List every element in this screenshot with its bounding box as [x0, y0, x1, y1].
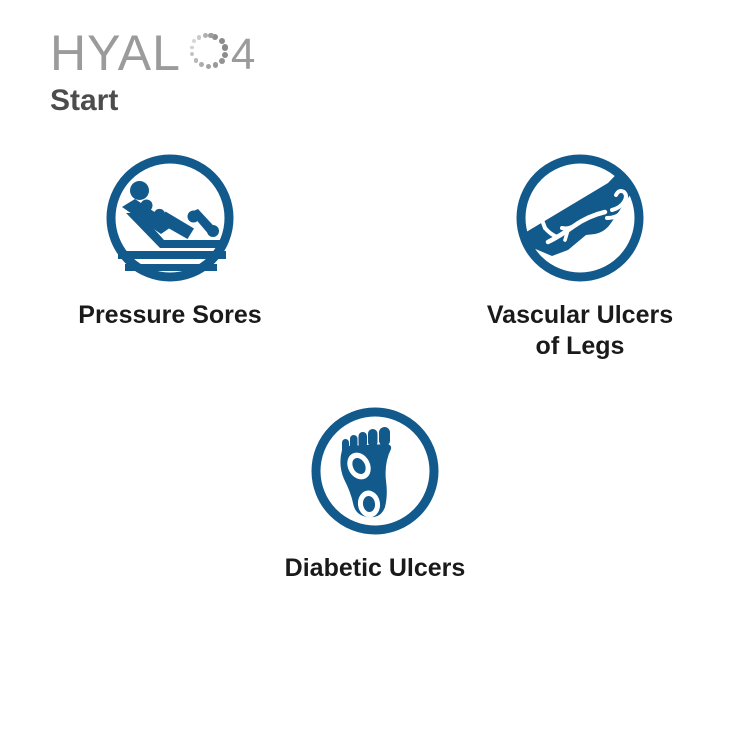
indication-menu: Pressure Sores — [0, 150, 750, 584]
dotted-circle-o-icon — [183, 30, 229, 76]
menu-item-label: Pressure Sores — [78, 300, 261, 331]
menu-item-diabetic-ulcers[interactable]: Diabetic Ulcers — [260, 403, 490, 584]
logo-version-number: 4 — [231, 33, 255, 77]
hospital-bed-patient-icon — [102, 150, 238, 286]
brand-header: HYAL 4 Start — [50, 26, 470, 118]
menu-row-bottom: Diabetic Ulcers — [0, 403, 750, 584]
leg-veins-icon — [512, 150, 648, 286]
logo-wordmark-text: HYAL — [50, 28, 181, 78]
hyalo4-logo: HYAL 4 — [50, 26, 470, 80]
menu-item-label: Diabetic Ulcers — [285, 553, 466, 584]
menu-row-top: Pressure Sores — [0, 150, 750, 361]
menu-item-label: Vascular Ulcers of Legs — [487, 300, 673, 361]
foot-ulcer-icon — [307, 403, 443, 539]
page-title: Start — [50, 84, 470, 118]
menu-item-pressure-sores[interactable]: Pressure Sores — [55, 150, 285, 361]
menu-item-vascular-ulcers-of-legs[interactable]: Vascular Ulcers of Legs — [465, 150, 695, 361]
